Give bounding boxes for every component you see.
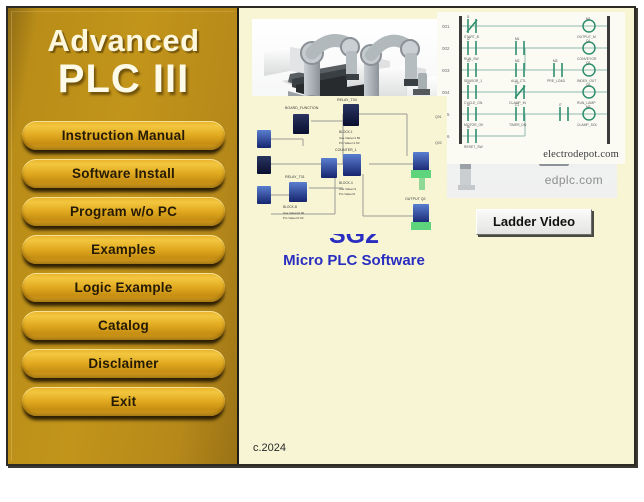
svg-text:Use Value=3: Use Value=3	[339, 187, 356, 191]
application-window: Advanced PLC III Instruction Manual Soft…	[6, 6, 636, 466]
svg-text:Use Value=0.00: Use Value=0.00	[283, 211, 305, 215]
menu-button-examples[interactable]: Examples	[22, 235, 225, 264]
menu-button-logic-example[interactable]: Logic Example	[22, 273, 225, 302]
svg-text:RELAY_T04: RELAY_T04	[337, 98, 357, 102]
menu-button-label: Examples	[22, 235, 225, 264]
menu-button-software-install[interactable]: Software Install	[22, 159, 225, 188]
svg-text:C1: C1	[515, 103, 519, 107]
function-block-diagram: BOARD_FUNCTION RELAY_T01 BLOCK-B Use Val…	[247, 96, 447, 234]
svg-text:I2: I2	[467, 37, 470, 41]
svg-text:Use Value=1.50: Use Value=1.50	[339, 136, 361, 140]
svg-text:PRE_LOAD: PRE_LOAD	[547, 79, 566, 83]
content-panel: edplc.com SG2 Micro PLC Software	[239, 8, 634, 464]
svg-text:T1: T1	[515, 81, 519, 85]
svg-text:Q02: Q02	[435, 141, 442, 145]
menu-button-label: Logic Example	[22, 273, 225, 302]
menu-button-label: Program w/o PC	[22, 197, 225, 226]
svg-text:I1: I1	[467, 15, 470, 19]
svg-text:I4: I4	[467, 81, 470, 85]
menu-button-exit[interactable]: Exit	[22, 387, 225, 416]
page-title: Advanced PLC III	[8, 24, 239, 100]
svg-text:OUTPUT Q2: OUTPUT Q2	[405, 197, 426, 201]
svg-text:I7: I7	[559, 103, 562, 107]
svg-text:M1: M1	[586, 17, 591, 21]
svg-text:TIMER_DN: TIMER_DN	[509, 123, 527, 127]
svg-text:Prs Value=0: Prs Value=0	[339, 192, 356, 196]
ladder-logic-diagram: 001002 003004 005006 START_BRUN_SW SENSO…	[437, 12, 625, 164]
ladder-watermark: electrodepot.com	[543, 149, 619, 160]
svg-text:BLOCK-B: BLOCK-B	[283, 205, 297, 209]
svg-text:M3: M3	[553, 59, 558, 63]
svg-text:Prs Value=0.00: Prs Value=0.00	[283, 216, 304, 220]
svg-text:I3: I3	[467, 59, 470, 63]
menu-button-disclaimer[interactable]: Disclaimer	[22, 349, 225, 378]
svg-text:CLAMP_SOL: CLAMP_SOL	[577, 123, 597, 127]
svg-text:M2: M2	[586, 105, 591, 109]
svg-text:RELAY_T01: RELAY_T01	[285, 175, 305, 179]
main-menu: Instruction Manual Software Install Prog…	[22, 121, 225, 425]
svg-text:BLOCK-4: BLOCK-4	[339, 181, 353, 185]
menu-button-label: Catalog	[22, 311, 225, 340]
svg-text:Q2: Q2	[586, 61, 590, 65]
svg-text:I5: I5	[467, 103, 470, 107]
svg-text:I6: I6	[467, 125, 470, 129]
svg-text:COUNTER_1: COUNTER_1	[335, 148, 357, 152]
menu-button-instruction-manual[interactable]: Instruction Manual	[22, 121, 225, 150]
svg-text:003: 003	[442, 68, 450, 73]
svg-text:Q1: Q1	[586, 39, 590, 43]
svg-text:BLOCK-1: BLOCK-1	[339, 130, 353, 134]
ladder-video-button[interactable]: Ladder Video	[476, 209, 592, 235]
menu-button-label: Disclaimer	[22, 349, 225, 378]
menu-button-program-without-pc[interactable]: Program w/o PC	[22, 197, 225, 226]
title-line-plc-iii: PLC III	[8, 58, 239, 100]
title-line-advanced: Advanced	[8, 24, 239, 58]
svg-text:004: 004	[442, 90, 450, 95]
menu-button-label: Exit	[22, 387, 225, 416]
copyright-text: c.2024	[253, 442, 286, 454]
menu-button-catalog[interactable]: Catalog	[22, 311, 225, 340]
function-block-illustration: BOARD_FUNCTION RELAY_T01 BLOCK-B Use Val…	[247, 96, 447, 234]
menu-button-label: Software Install	[22, 159, 225, 188]
svg-text:001: 001	[442, 24, 450, 29]
svg-text:M2: M2	[515, 59, 520, 63]
svg-text:Prs Value=1.50: Prs Value=1.50	[339, 141, 360, 145]
svg-text:RESET_SW: RESET_SW	[464, 145, 483, 149]
sg2-subtitle: Micro PLC Software	[259, 251, 449, 271]
svg-text:Q01: Q01	[435, 115, 442, 119]
svg-text:M1: M1	[515, 37, 520, 41]
svg-text:Q3: Q3	[586, 83, 590, 87]
menu-button-label: Instruction Manual	[22, 121, 225, 150]
svg-text:BOARD_FUNCTION: BOARD_FUNCTION	[285, 106, 319, 110]
photo-watermark: edplc.com	[545, 173, 603, 187]
left-menu-panel: Advanced PLC III Instruction Manual Soft…	[8, 8, 239, 464]
svg-text:002: 002	[442, 46, 450, 51]
ladder-logic-illustration: 001002 003004 005006 START_BRUN_SW SENSO…	[437, 12, 625, 164]
